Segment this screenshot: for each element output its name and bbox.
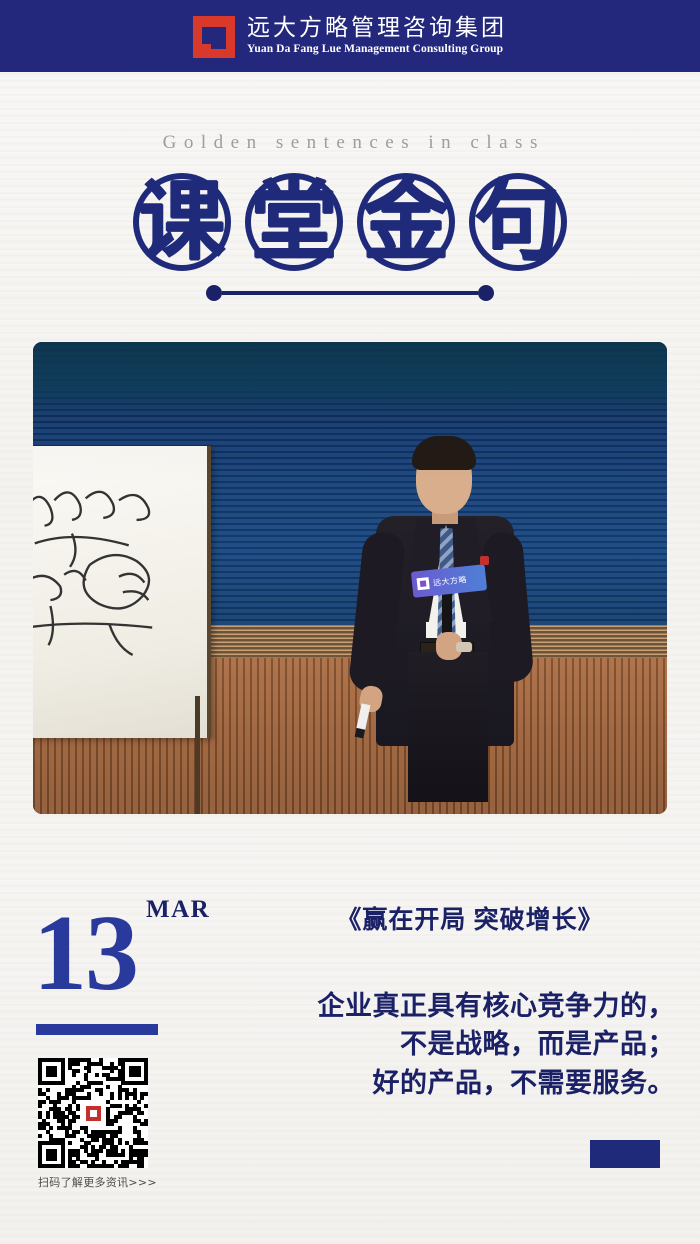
page-title: 课 堂 金 句 (0, 168, 700, 276)
title-char-2: 堂 (242, 170, 346, 274)
brand-name-cn: 远大方略管理咨询集团 (247, 16, 507, 41)
date-block: MAR 13 (0, 880, 260, 1050)
footer-accent-block (590, 1140, 660, 1168)
divider-dot-right-icon (478, 285, 494, 301)
course-title: 《赢在开局 突破增长》 (275, 900, 665, 936)
date-month: MAR (146, 896, 210, 924)
title-char-1: 课 (130, 170, 234, 274)
presenter-figure: 远大方略 (338, 436, 548, 814)
brand-name-en: Yuan Da Fang Lue Management Consulting G… (247, 43, 507, 56)
divider-line (222, 291, 478, 295)
photo-backdrop-tint (33, 342, 667, 418)
speaker-photo: 远大方略 (33, 342, 667, 814)
qr-caption: 扫码了解更多资讯>>> (38, 1174, 170, 1190)
quote-block: 《赢在开局 突破增长》 企业真正具有核心竞争力的， 不是战略，而是产品； 好的产… (275, 900, 675, 1103)
quote-line: 不是战略，而是产品； (275, 1026, 675, 1064)
qr-center-logo-icon (83, 1103, 103, 1123)
eyebrow-text: Golden sentences in class (0, 132, 700, 154)
title-char-3: 金 (354, 170, 458, 274)
qr-code-image[interactable] (38, 1058, 148, 1168)
date-underline (36, 1024, 158, 1035)
quote-line: 企业真正具有核心竞争力的， (275, 988, 675, 1026)
brand-text: 远大方略管理咨询集团 Yuan Da Fang Lue Management C… (247, 16, 507, 56)
company-logo-icon (193, 14, 235, 58)
brand-lockup: 远大方略管理咨询集团 Yuan Da Fang Lue Management C… (193, 14, 507, 58)
header-bar: 远大方略管理咨询集团 Yuan Da Fang Lue Management C… (0, 0, 700, 72)
date-day: 13 (33, 908, 137, 1001)
quote-line: 好的产品，不需要服务。 (275, 1065, 675, 1103)
decorative-divider (0, 284, 700, 302)
handwriting-marks (33, 446, 207, 739)
title-char-4: 句 (466, 170, 570, 274)
quote-text: 企业真正具有核心竞争力的， 不是战略，而是产品； 好的产品，不需要服务。 (275, 988, 675, 1103)
flip-chart-board (33, 446, 211, 739)
qr-block[interactable]: 扫码了解更多资讯>>> (38, 1058, 170, 1190)
divider-dot-left-icon (206, 285, 222, 301)
